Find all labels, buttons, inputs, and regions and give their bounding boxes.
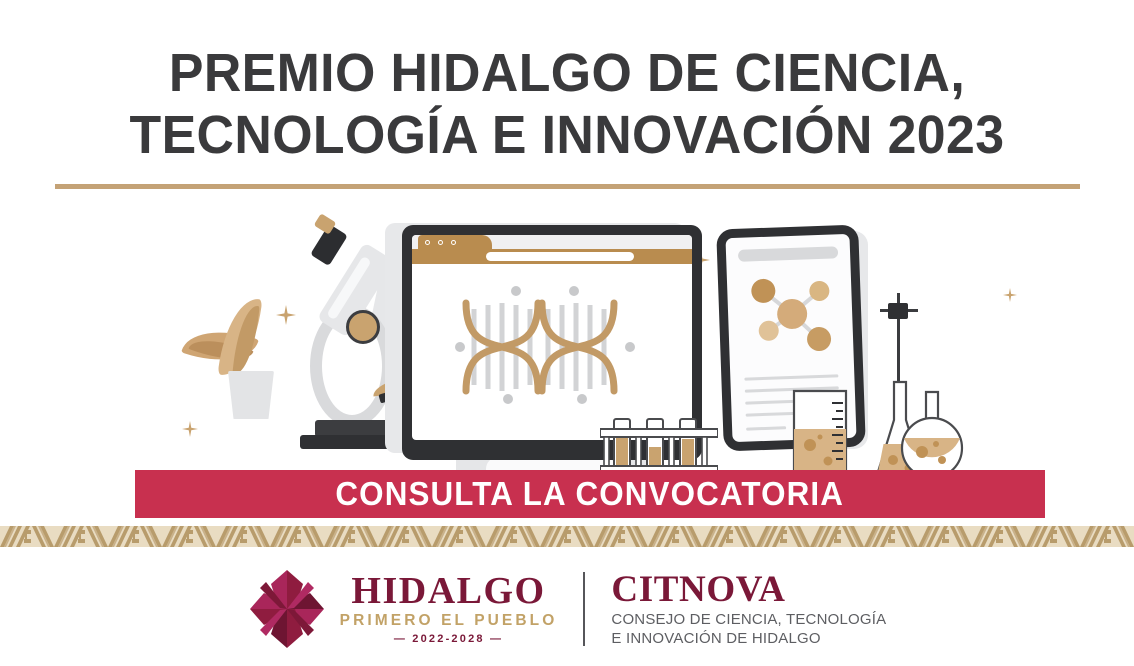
poster-canvas: PREMIO HIDALGO DE CIENCIA, TECNOLOGÍA E …	[0, 0, 1134, 666]
citnova-name: CITNOVA	[611, 570, 886, 610]
browser-url-field	[486, 252, 634, 261]
tablet-text-line	[744, 374, 838, 380]
lab-stand-clamp	[888, 303, 908, 319]
banner-label: CONSULTA LA CONVOCATORIA	[336, 475, 845, 513]
title-line-2: TECNOLOGÍA E INNOVACIÓN 2023	[23, 104, 1112, 166]
title-underline-rule	[55, 184, 1080, 189]
browser-dot-icon	[438, 240, 443, 245]
hidalgo-government-logo: HIDALGO PRIMERO EL PUEBLO — 2022-2028 —	[248, 568, 558, 650]
round-bottom-flask-icon	[900, 390, 972, 480]
eight-point-star-icon	[248, 568, 326, 650]
citnova-subtitle-line-1: CONSEJO DE CIENCIA, TECNOLOGÍA	[611, 610, 886, 629]
tablet-header-bar	[738, 246, 838, 261]
convocatoria-banner[interactable]: CONSULTA LA CONVOCATORIA	[135, 470, 1045, 518]
beaker-icon	[790, 387, 850, 480]
hidalgo-name: HIDALGO	[340, 571, 558, 611]
science-lab-illustration	[0, 205, 1134, 480]
page-title: PREMIO HIDALGO DE CIENCIA, TECNOLOGÍA E …	[0, 42, 1134, 166]
plant-pot-icon	[228, 371, 274, 419]
browser-dot-icon	[451, 240, 456, 245]
dna-helix-icon	[452, 281, 652, 413]
citnova-logo: CITNOVA CONSEJO DE CIENCIA, TECNOLOGÍA E…	[611, 570, 886, 648]
molecule-diagram-icon	[741, 268, 842, 364]
citnova-subtitle-line-2: E INNOVACIÓN DE HIDALGO	[611, 629, 886, 648]
logo-divider	[583, 572, 585, 646]
hidalgo-slogan: PRIMERO EL PUEBLO	[340, 611, 558, 631]
monitor-screen	[412, 235, 692, 440]
decorative-pattern-band	[0, 526, 1134, 547]
tablet-text-line	[746, 426, 786, 430]
microscope-focus-knob	[346, 310, 380, 344]
footer-logo-row: HIDALGO PRIMERO EL PUEBLO — 2022-2028 — …	[0, 552, 1134, 666]
browser-dot-icon	[425, 240, 430, 245]
title-line-1: PREMIO HIDALGO DE CIENCIA,	[23, 42, 1112, 104]
hidalgo-term-years: — 2022-2028 —	[340, 631, 558, 647]
hidalgo-logo-text: HIDALGO PRIMERO EL PUEBLO — 2022-2028 —	[340, 571, 558, 647]
